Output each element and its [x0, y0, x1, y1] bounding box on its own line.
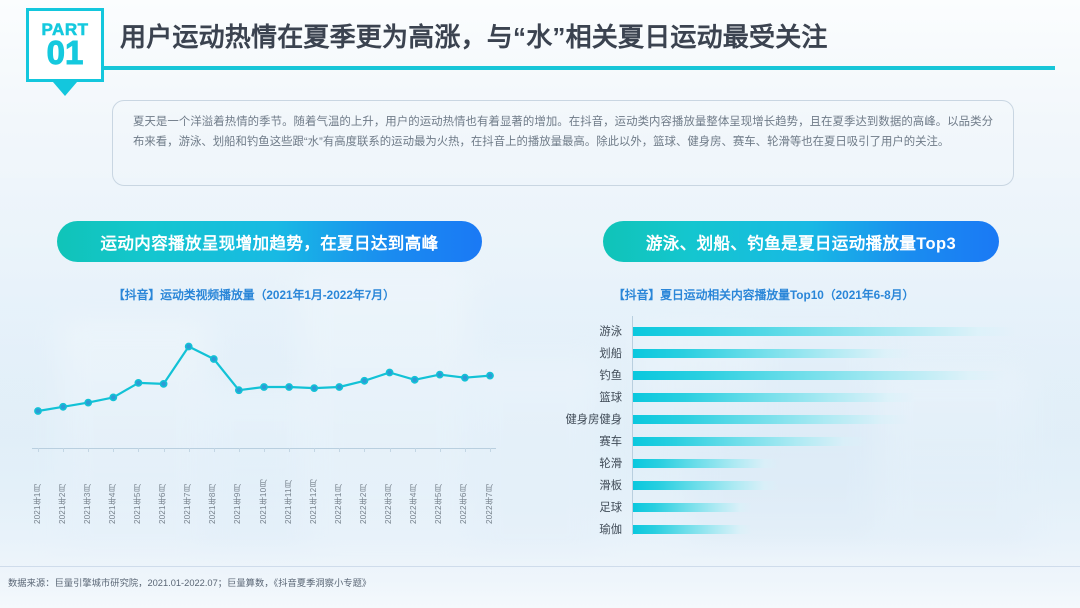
line-chart-tick-mark: [214, 448, 215, 452]
bar-chart-row: 游泳: [545, 320, 1025, 342]
bar-chart-track: [633, 349, 1025, 358]
bar-chart-category-label: 划船: [545, 345, 628, 361]
bar-chart-category-label: 健身房健身: [545, 411, 628, 427]
chart-caption-right: 【抖音】夏日运动相关内容播放量Top10（2021年6-8月）: [613, 286, 914, 303]
line-chart-x-tick: 2021年10月: [258, 448, 271, 528]
bar-chart-row: 滑板: [545, 474, 1025, 496]
line-chart-x-tick: 2021年2月: [57, 448, 70, 528]
line-chart-x-axis-labels: 2021年1月2021年2月2021年3月2021年4月2021年5月2021年…: [20, 448, 520, 534]
line-chart-tick-mark: [440, 448, 441, 452]
line-chart-point: [387, 369, 393, 375]
bar-chart-track: [633, 393, 1025, 402]
line-chart-x-tick: 2022年2月: [358, 448, 371, 528]
line-chart-point: [336, 384, 342, 390]
bar-chart-track: [633, 415, 1025, 424]
line-chart-x-tick: 2021年1月: [32, 448, 45, 528]
line-chart-svg: [20, 320, 520, 450]
line-chart-tick-mark: [339, 448, 340, 452]
slide-header: PART 01 用户运动热情在夏季更为高涨，与“水”相关夏日运动最受关注: [0, 0, 1080, 92]
line-chart-x-tick: 2022年3月: [383, 448, 396, 528]
line-chart-tick-mark: [113, 448, 114, 452]
slide-page: PART 01 用户运动热情在夏季更为高涨，与“水”相关夏日运动最受关注 夏天是…: [0, 0, 1080, 608]
line-chart-tick-mark: [189, 448, 190, 452]
bar-chart-bar: [633, 393, 916, 402]
line-chart-point: [161, 381, 167, 387]
bar-chart-track: [633, 459, 1025, 468]
bar-chart-bar: [633, 415, 909, 424]
line-chart-tick-mark: [390, 448, 391, 452]
line-chart-point: [85, 400, 91, 406]
bar-chart-bar: [633, 503, 752, 512]
section-banner-left: 运动内容播放呈现增加趋势，在夏日达到高峰: [57, 221, 482, 262]
bar-chart-track: [633, 327, 1025, 336]
intro-paragraph: 夏天是一个洋溢着热情的季节。随着气温的上升，用户的运动热情也有着显著的增加。在抖…: [133, 112, 993, 152]
line-chart-tick-mark: [63, 448, 64, 452]
line-chart-tick-mark: [289, 448, 290, 452]
bar-chart-bar: [633, 349, 913, 358]
line-chart-point: [487, 373, 493, 379]
line-chart-point: [462, 375, 468, 381]
line-chart-x-tick: 2021年5月: [132, 448, 145, 528]
bar-chart-row: 轮滑: [545, 452, 1025, 474]
line-chart-x-tick: 2021年11月: [283, 448, 296, 528]
line-chart-tick-mark: [490, 448, 491, 452]
line-chart-point: [110, 394, 116, 400]
line-chart-series: [38, 347, 490, 412]
bar-chart-bar: [633, 437, 867, 446]
bar-chart-category-label: 钓鱼: [545, 367, 628, 383]
line-chart-x-tick: 2021年4月: [107, 448, 120, 528]
bar-chart-row: 钓鱼: [545, 364, 1025, 386]
bar-chart-track: [633, 371, 1025, 380]
line-chart-point: [60, 404, 66, 410]
bar-chart-category-label: 滑板: [545, 477, 628, 493]
bar-chart-row: 健身房健身: [545, 408, 1025, 430]
bar-chart-row: 划船: [545, 342, 1025, 364]
bar-chart-bar: [633, 327, 1016, 336]
bar-chart-bar: [633, 371, 1005, 380]
line-chart-x-tick: 2022年5月: [433, 448, 446, 528]
line-chart-x-tick: 2022年4月: [408, 448, 421, 528]
line-chart-tick-mark: [264, 448, 265, 452]
intro-card: 夏天是一个洋溢着热情的季节。随着气温的上升，用户的运动热情也有着显著的增加。在抖…: [112, 100, 1014, 186]
line-chart-point: [437, 372, 443, 378]
line-chart-point: [135, 380, 141, 386]
line-chart-point: [186, 343, 192, 349]
page-title: 用户运动热情在夏季更为高涨，与“水”相关夏日运动最受关注: [120, 17, 1020, 54]
chart-caption-left: 【抖音】运动类视频播放量（2021年1月-2022年7月）: [113, 286, 395, 303]
part-badge: PART 01: [26, 8, 104, 82]
bar-chart-row: 篮球: [545, 386, 1025, 408]
line-chart-x-tick: 2021年9月: [232, 448, 245, 528]
line-chart-point: [211, 356, 217, 362]
footer-divider: [0, 566, 1080, 567]
bar-chart-row: 瑜伽: [545, 518, 1025, 540]
line-chart-x-tick: 2021年7月: [182, 448, 195, 528]
bar-chart-bar: [633, 525, 752, 534]
line-chart-tick-mark: [415, 448, 416, 452]
bar-chart-track: [633, 437, 1025, 446]
bar-chart-row: 足球: [545, 496, 1025, 518]
bar-chart-track: [633, 503, 1025, 512]
line-chart-x-tick: 2022年7月: [484, 448, 497, 528]
line-chart-point: [412, 377, 418, 383]
line-chart: 2021年1月2021年2月2021年3月2021年4月2021年5月2021年…: [20, 320, 520, 535]
background-bottom-fade: [0, 538, 1080, 608]
bar-chart-track: [633, 525, 1025, 534]
bar-chart-category-label: 游泳: [545, 323, 628, 339]
bar-chart-category-label: 足球: [545, 499, 628, 515]
line-chart-tick-mark: [138, 448, 139, 452]
line-chart-x-tick: 2022年6月: [458, 448, 471, 528]
line-chart-tick-mark: [88, 448, 89, 452]
line-chart-point: [261, 384, 267, 390]
title-underline: [100, 66, 1055, 70]
line-chart-point: [286, 384, 292, 390]
bar-chart-bar: [633, 481, 779, 490]
line-chart-point: [236, 387, 242, 393]
line-chart-tick-mark: [239, 448, 240, 452]
line-chart-tick-mark: [364, 448, 365, 452]
bar-chart-track: [633, 481, 1025, 490]
line-chart-x-tick: 2021年8月: [207, 448, 220, 528]
bar-chart-bar: [633, 459, 779, 468]
line-chart-tick-mark: [38, 448, 39, 452]
section-banner-right: 游泳、划船、钓鱼是夏日运动播放量Top3: [603, 221, 999, 262]
line-chart-tick-mark: [465, 448, 466, 452]
part-badge-number: 01: [47, 37, 84, 69]
line-chart-tick-mark: [164, 448, 165, 452]
bar-chart-category-label: 篮球: [545, 389, 628, 405]
line-chart-x-tick: 2021年6月: [157, 448, 170, 528]
line-chart-tick-mark: [314, 448, 315, 452]
bar-chart: 游泳划船钓鱼篮球健身房健身赛车轮滑滑板足球瑜伽: [545, 316, 1025, 538]
bar-chart-category-label: 轮滑: [545, 455, 628, 471]
line-chart-point: [361, 378, 367, 384]
bar-chart-category-label: 赛车: [545, 433, 628, 449]
line-chart-x-tick: 2022年1月: [333, 448, 346, 528]
bar-chart-category-label: 瑜伽: [545, 521, 628, 537]
footer-source: 数据来源：巨量引擎城市研究院，2021.01-2022.07；巨量算数，《抖音夏…: [8, 575, 371, 589]
line-chart-x-tick: 2021年12月: [308, 448, 321, 528]
part-badge-pointer-icon: [53, 82, 77, 96]
bar-chart-row: 赛车: [545, 430, 1025, 452]
line-chart-point: [35, 408, 41, 414]
line-chart-x-tick: 2021年3月: [82, 448, 95, 528]
line-chart-point: [311, 385, 317, 391]
